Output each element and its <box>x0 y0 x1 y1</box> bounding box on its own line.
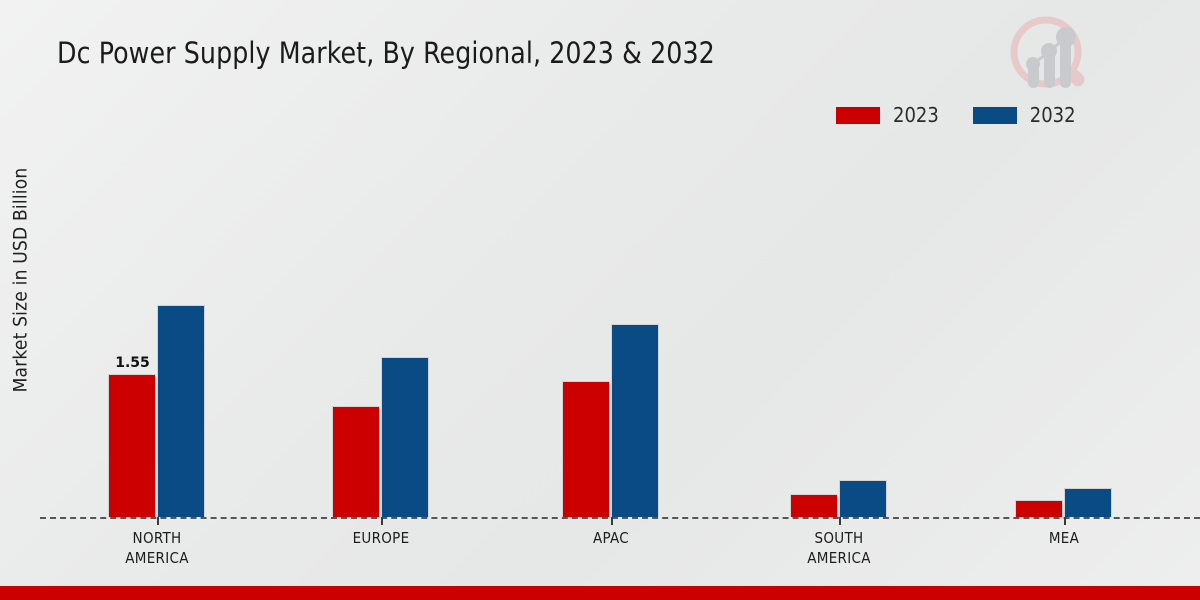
x-tick-south-america <box>839 517 841 525</box>
x-tick-europe <box>381 517 383 525</box>
x-tick-apac <box>611 517 613 525</box>
x-label-mea-line1: MEA <box>1049 529 1079 547</box>
bar-mea-2023[interactable] <box>1015 500 1063 517</box>
bar-mea-2032[interactable] <box>1064 488 1112 517</box>
chart-legend: 2023 2032 <box>836 105 1076 125</box>
x-label-south-america-line1: SOUTH <box>815 529 864 547</box>
y-axis-title-text: Market Size in USD Billion <box>9 168 31 393</box>
bar-group-north-america: 1.55 <box>108 140 205 517</box>
bar-group-mea <box>1015 140 1112 517</box>
x-tick-north-america <box>157 517 159 525</box>
x-label-apac: APAC <box>501 528 721 548</box>
x-label-north-america-line1: NORTH <box>133 529 182 547</box>
bar-label-north-america-2023: 1.55 <box>108 355 157 371</box>
bar-group-south-america <box>790 140 887 517</box>
legend-swatch-2032 <box>973 107 1017 124</box>
x-label-south-america-line2: AMERICA <box>729 548 949 568</box>
bar-south-america-2023[interactable] <box>790 494 838 517</box>
bar-apac-2032[interactable] <box>611 324 659 517</box>
bar-north-america-2032[interactable] <box>157 305 205 517</box>
x-label-north-america-line2: AMERICA <box>47 548 267 568</box>
bar-north-america-2023[interactable] <box>108 374 156 517</box>
legend-item-2023[interactable]: 2023 <box>836 105 939 125</box>
bar-apac-2023[interactable] <box>562 381 610 517</box>
x-label-north-america: NORTH AMERICA <box>47 528 267 568</box>
bar-group-apac <box>562 140 659 517</box>
x-tick-mea <box>1064 517 1066 525</box>
x-label-europe: EUROPE <box>271 528 491 548</box>
x-axis-baseline <box>40 517 1200 519</box>
bar-group-europe <box>332 140 429 517</box>
x-label-apac-line1: APAC <box>593 529 629 547</box>
y-axis-title: Market Size in USD Billion <box>0 0 40 560</box>
plot-area: 1.55 NORTH AMERICA EUROPE APAC <box>40 140 1200 518</box>
legend-label-2032: 2032 <box>1030 105 1076 125</box>
company-logo-watermark <box>1002 8 1098 104</box>
legend-swatch-2023 <box>836 107 880 124</box>
chart-title: Dc Power Supply Market, By Regional, 202… <box>57 36 715 70</box>
legend-label-2023: 2023 <box>893 105 939 125</box>
bar-south-america-2032[interactable] <box>839 480 887 517</box>
x-label-europe-line1: EUROPE <box>353 529 410 547</box>
footer-accent-bar <box>0 586 1200 600</box>
bar-europe-2023[interactable] <box>332 406 380 517</box>
x-label-mea: MEA <box>954 528 1174 548</box>
legend-item-2032[interactable]: 2032 <box>973 105 1076 125</box>
bar-europe-2032[interactable] <box>381 357 429 517</box>
chart-container: Dc Power Supply Market, By Regional, 202… <box>0 0 1200 600</box>
x-label-south-america: SOUTH AMERICA <box>729 528 949 568</box>
